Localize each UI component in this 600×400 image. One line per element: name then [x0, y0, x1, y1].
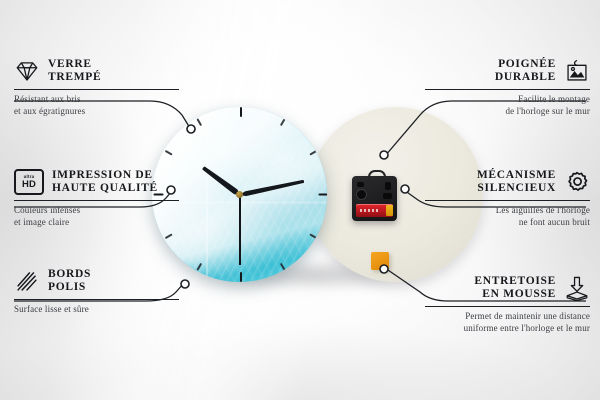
- feature-header: ENTRETOISE EN MOUSSE: [425, 275, 590, 301]
- infographic-canvas: VERRE TREMPÉ Résistant aux bris et aux é…: [0, 0, 600, 400]
- feature-sub-line1: Résistant aux bris: [14, 94, 179, 106]
- feature-header: VERRE TREMPÉ: [14, 58, 179, 84]
- movement-nub-right-lower: [383, 193, 392, 199]
- feature-sub-line2: ne font aucun bruit: [425, 217, 590, 229]
- quartz-movement: [352, 176, 397, 221]
- movement-dial: [357, 190, 366, 199]
- feature-mecanisme-silencieux[interactable]: MÉCANISME SILENCIEUX Les aiguilles de l'…: [425, 169, 590, 228]
- feature-header: MÉCANISME SILENCIEUX: [425, 169, 590, 195]
- feature-title: POIGNÉE DURABLE: [495, 58, 556, 84]
- feature-impression-haute-qualite[interactable]: ultra HD IMPRESSION DE HAUTE QUALITÉ Cou…: [14, 169, 179, 228]
- hands-center-cap: [236, 191, 243, 198]
- hour-mark: [240, 107, 242, 195]
- hanger-hook-icon: [368, 170, 386, 181]
- feature-sub-line2: uniforme entre l'horloge et le mur: [425, 323, 590, 335]
- gear-icon: [564, 169, 590, 195]
- feature-title: BORDS POLIS: [48, 268, 91, 294]
- battery: [356, 204, 393, 217]
- divider: [425, 89, 590, 90]
- movement-nub-right: [385, 182, 391, 190]
- feature-entretoise-en-mousse[interactable]: ENTRETOISE EN MOUSSE Permet de maintenir…: [425, 275, 590, 334]
- polished-edges-icon: [14, 268, 40, 294]
- feature-sub-line2: de l'horloge sur le mur: [425, 106, 590, 118]
- divider: [14, 89, 179, 90]
- feature-verre-trempe[interactable]: VERRE TREMPÉ Résistant aux bris et aux é…: [14, 58, 179, 117]
- feature-header: ultra HD IMPRESSION DE HAUTE QUALITÉ: [14, 169, 179, 195]
- feature-sub-line1: Surface lisse et sûre: [14, 304, 179, 316]
- feature-poignee-durable[interactable]: POIGNÉE DURABLE Facilite le montage de l…: [425, 58, 590, 117]
- feature-bords-polis[interactable]: BORDS POLIS Surface lisse et sûre: [14, 268, 179, 316]
- wall-hanger-icon: [564, 58, 590, 84]
- feature-sub-line2: et aux égratignures: [14, 106, 179, 118]
- divider: [425, 200, 590, 201]
- second-hand: [239, 195, 241, 265]
- feature-title: ENTRETOISE EN MOUSSE: [474, 275, 556, 301]
- feature-title: MÉCANISME SILENCIEUX: [477, 169, 556, 195]
- feature-sub-line1: Facilite le montage: [425, 94, 590, 106]
- feature-header: BORDS POLIS: [14, 268, 179, 294]
- ultra-hd-icon: ultra HD: [14, 169, 44, 195]
- feature-title: VERRE TREMPÉ: [48, 58, 101, 84]
- feature-sub-line1: Permet de maintenir une distance: [425, 311, 590, 323]
- divider: [14, 200, 179, 201]
- feature-header: POIGNÉE DURABLE: [425, 58, 590, 84]
- feature-title: IMPRESSION DE HAUTE QUALITÉ: [52, 169, 158, 195]
- feature-sub-line1: Couleurs intenses: [14, 205, 179, 217]
- feature-sub-line2: et image claire: [14, 217, 179, 229]
- foam-spacer: [371, 252, 389, 270]
- divider: [425, 306, 590, 307]
- divider: [14, 299, 179, 300]
- foam-spacer-icon: [564, 275, 590, 301]
- diamond-icon: [14, 58, 40, 84]
- feature-sub-line1: Les aiguilles de l'horloge: [425, 205, 590, 217]
- movement-detail-top: [357, 182, 364, 187]
